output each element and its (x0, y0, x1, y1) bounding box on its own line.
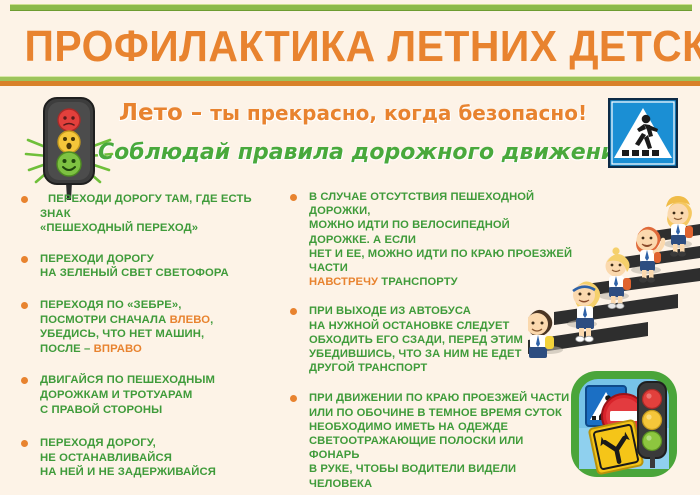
list-item-text: ПРИ ДВИЖЕНИИ ПО КРАЮ ПРОЕЗЖЕЙ ЧАСТИ ИЛИ … (309, 391, 573, 490)
list-item: ПЕРЕХОДИ ДОРОГУ НА ЗЕЛЕНЫЙ СВЕТ СВЕТОФОР… (14, 252, 282, 281)
bullet-dot (21, 440, 28, 447)
right-bullet-column: В СЛУЧАЕ ОТСУТСТВИЯ ПЕШЕХОДНОЙ ДОРОЖКИ, … (283, 190, 573, 495)
list-item: ПЕРЕХОДИ ДОРОГУ ТАМ, ГДЕ ЕСТЬ ЗНАК «ПЕШЕ… (14, 192, 282, 236)
highlight-left: ВЛЕВО (170, 314, 211, 326)
traffic-light-small (638, 382, 666, 468)
list-item-text: ПРИ ВЫХОДЕ ИЗ АВТОБУСА НА НУЖНОЙ ОСТАНОВ… (309, 304, 573, 375)
fork-warning-sign (589, 420, 644, 475)
list-item: ПРИ ВЫХОДЕ ИЗ АВТОБУСА НА НУЖНОЙ ОСТАНОВ… (283, 304, 573, 375)
red-light (58, 109, 80, 131)
headline-line-1-rest: ты прекрасно, когда безопасно! (210, 101, 587, 125)
list-item: ПРИ ДВИЖЕНИИ ПО КРАЮ ПРОЕЗЖЕЙ ЧАСТИ ИЛИ … (283, 391, 573, 490)
list-item: В СЛУЧАЕ ОТСУТСТВИЯ ПЕШЕХОДНОЙ ДОРОЖКИ, … (283, 190, 573, 289)
bullet-dot (21, 256, 28, 263)
divider-orange-rule (0, 81, 700, 86)
bullet-dot (290, 308, 297, 315)
bullet-dot (21, 196, 28, 203)
list-item-text: В СЛУЧАЕ ОТСУТСТВИЯ ПЕШЕХОДНОЙ ДОРОЖКИ, … (309, 190, 573, 289)
yellow-light (58, 131, 80, 153)
poster-root: ПРОФИЛАКТИКА ЛЕТНИХ ДЕТСКИХ ТРАВМ (0, 0, 700, 495)
headline-word-leto: Лето (119, 100, 183, 126)
bullet-dot (290, 395, 297, 402)
headline-line-2: Соблюдай правила дорожного движения (98, 140, 608, 166)
left-bullet-column: ПЕРЕХОДИ ДОРОГУ ТАМ, ГДЕ ЕСТЬ ЗНАК «ПЕШЕ… (14, 192, 282, 493)
list-item-text: ПЕРЕХОДЯ ДОРОГУ, НЕ ОСТАНАВЛИВАЙСЯ НА НЕ… (40, 436, 282, 480)
highlight-navstrechu: НАВСТРЕЧУ (309, 276, 378, 288)
top-green-rule (10, 4, 692, 11)
list-item-text: ПЕРЕХОДЯ ПО «ЗЕБРЕ», ПОСМОТРИ СНАЧАЛА ВЛ… (40, 298, 282, 356)
pedestrian-crossing-sign-icon (608, 98, 678, 168)
list-item-text: ПЕРЕХОДИ ДОРОГУ ТАМ, ГДЕ ЕСТЬ ЗНАК «ПЕШЕ… (40, 192, 282, 236)
bullet-dot (290, 194, 297, 201)
headline-line-1: Лето – ты прекрасно, когда безопасно! (108, 100, 598, 126)
list-item-text: ДВИГАЙСЯ ПО ПЕШЕХОДНЫМ ДОРОЖКАМ И ТРОТУА… (40, 373, 282, 417)
list-item: ПЕРЕХОДЯ ПО «ЗЕБРЕ», ПОСМОТРИ СНАЧАЛА ВЛ… (14, 298, 282, 356)
road-signs-app-icon (568, 368, 680, 480)
list-item: ПЕРЕХОДЯ ДОРОГУ, НЕ ОСТАНАВЛИВАЙСЯ НА НЕ… (14, 436, 282, 480)
headline-dash: – (183, 100, 211, 126)
page-title: ПРОФИЛАКТИКА ЛЕТНИХ ДЕТСКИХ ТРАВМ (25, 24, 676, 70)
bullet-dot (21, 302, 28, 309)
list-item-text: ПЕРЕХОДИ ДОРОГУ НА ЗЕЛЕНЫЙ СВЕТ СВЕТОФОР… (40, 252, 282, 281)
green-light (57, 152, 81, 176)
bullet-dot (21, 377, 28, 384)
list-item: ДВИГАЙСЯ ПО ПЕШЕХОДНЫМ ДОРОЖКАМ И ТРОТУА… (14, 373, 282, 417)
highlight-right: ВПРАВО (94, 343, 142, 355)
